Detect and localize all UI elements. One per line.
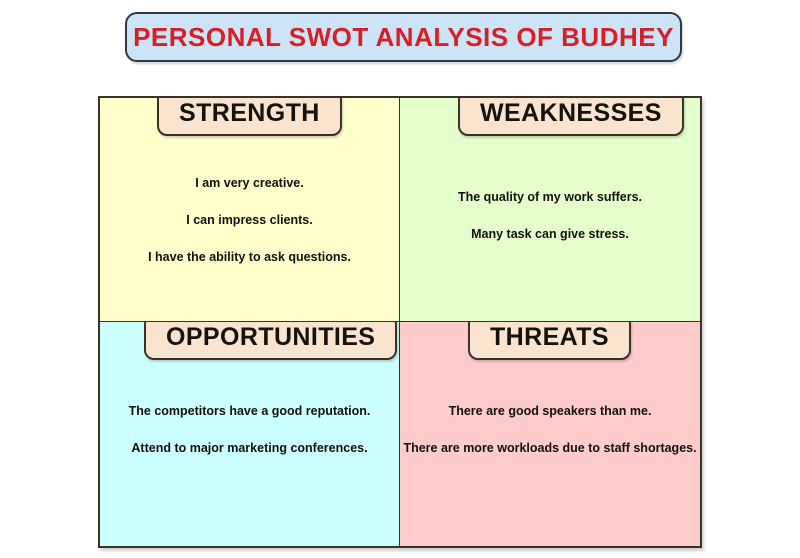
- quadrant-items-weaknesses: The quality of my work suffers. Many tas…: [400, 190, 700, 242]
- quadrant-items-threats: There are good speakers than me. There a…: [400, 404, 700, 456]
- quadrant-header-label-threats: THREATS: [490, 323, 609, 352]
- diagram-title-banner: PERSONAL SWOT ANALYSIS OF BUDHEY: [125, 12, 682, 62]
- list-item: I am very creative.: [195, 176, 303, 191]
- quadrant-header-opportunities: OPPORTUNITIES: [144, 322, 397, 360]
- quadrant-header-threats: THREATS: [468, 322, 631, 360]
- quadrant-header-weaknesses: WEAKNESSES: [458, 98, 684, 136]
- quadrant-strength: STRENGTH I am very creative. I can impre…: [100, 98, 400, 322]
- quadrant-items-strength: I am very creative. I can impress client…: [100, 176, 399, 265]
- quadrant-threats: THREATS There are good speakers than me.…: [400, 322, 700, 546]
- list-item: The competitors have a good reputation.: [129, 404, 371, 419]
- quadrant-header-label-opportunities: OPPORTUNITIES: [166, 323, 375, 352]
- list-item: The quality of my work suffers.: [458, 190, 642, 205]
- list-item: Many task can give stress.: [471, 227, 629, 242]
- list-item: There are more workloads due to staff sh…: [403, 441, 696, 456]
- list-item: I can impress clients.: [186, 213, 312, 228]
- quadrant-weaknesses: WEAKNESSES The quality of my work suffer…: [400, 98, 700, 322]
- list-item: There are good speakers than me.: [449, 404, 652, 419]
- page-title: PERSONAL SWOT ANALYSIS OF BUDHEY: [133, 22, 674, 53]
- quadrant-opportunities: OPPORTUNITIES The competitors have a goo…: [100, 322, 400, 546]
- quadrant-header-label-strength: STRENGTH: [179, 99, 320, 128]
- list-item: Attend to major marketing conferences.: [131, 441, 367, 456]
- list-item: I have the ability to ask questions.: [148, 250, 351, 265]
- quadrant-items-opportunities: The competitors have a good reputation. …: [100, 404, 399, 456]
- quadrant-header-label-weaknesses: WEAKNESSES: [480, 99, 662, 128]
- quadrant-header-strength: STRENGTH: [157, 98, 342, 136]
- swot-grid: STRENGTH I am very creative. I can impre…: [98, 96, 702, 548]
